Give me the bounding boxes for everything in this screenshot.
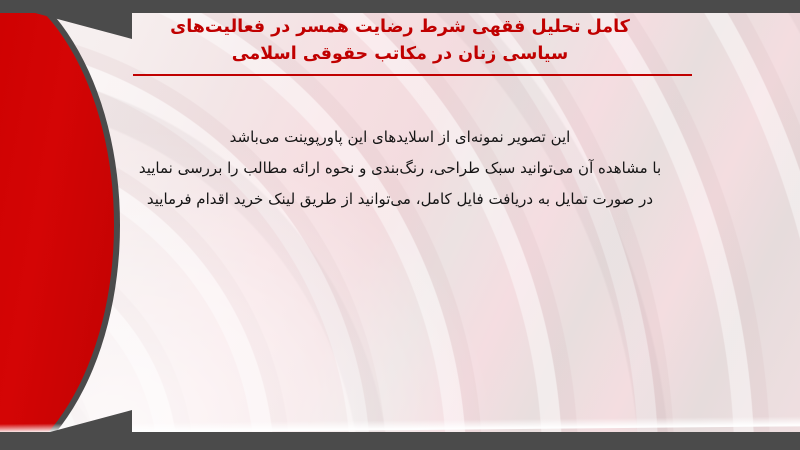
body-line-2: با مشاهده آن می‌توانید سبک طراحی، رنگ‌بن…	[100, 153, 700, 184]
title-underline	[133, 74, 692, 76]
bottom-frame-bar	[0, 432, 800, 450]
slide-title: کامل تحلیل فقهی شرط رضایت همسر در فعالیت…	[100, 14, 700, 68]
body-line-3: در صورت تمایل به دریافت فایل کامل، می‌تو…	[100, 184, 700, 215]
top-frame-bar	[0, 0, 800, 13]
title-line-2: سیاسی زنان در مکاتب حقوقی اسلامی	[100, 41, 700, 68]
red-ellipse-fill	[0, 0, 114, 450]
presentation-slide: کامل تحلیل فقهی شرط رضایت همسر در فعالیت…	[0, 0, 800, 450]
title-line-1: کامل تحلیل فقهی شرط رضایت همسر در فعالیت…	[100, 14, 700, 41]
slide-body-text: این تصویر نمونه‌ای از اسلایدهای این پاور…	[100, 122, 700, 215]
body-line-1: این تصویر نمونه‌ای از اسلایدهای این پاور…	[100, 122, 700, 153]
